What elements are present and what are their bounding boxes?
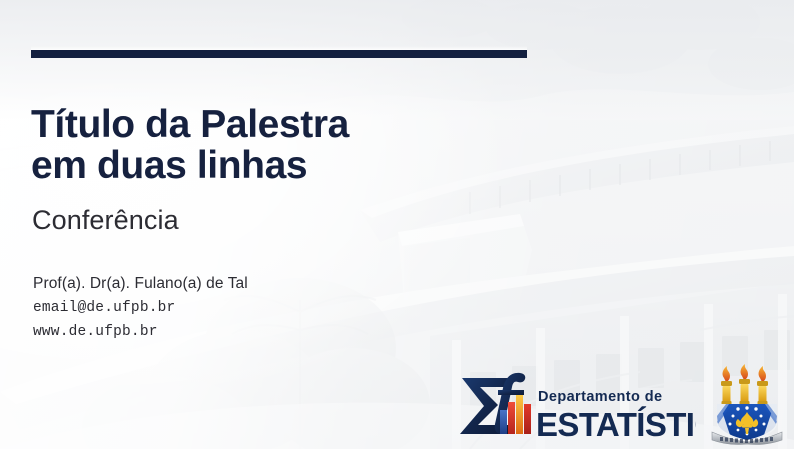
shield-icon [717, 404, 777, 440]
presenter-name: Prof(a). Dr(a). Fulano(a) de Tal [33, 275, 248, 293]
page-title: Título da Palestra em duas linhas [31, 104, 349, 187]
contact-website: www.de.ufpb.br [33, 324, 158, 340]
department-logo-line2: ESTATÍSTICA [536, 406, 696, 443]
event-type-subtitle: Conferência [32, 205, 179, 236]
background-top-fade [0, 0, 794, 120]
department-logo-line1: Departamento de [538, 389, 662, 405]
presentation-slide: Título da Palestra em duas linhas Confer… [0, 0, 794, 449]
contact-email: email@de.ufpb.br [33, 300, 175, 316]
torches-icon [721, 364, 768, 405]
department-logo: Departamento de ESTATÍSTICA [452, 368, 696, 444]
ufpb-coat-of-arms [708, 364, 786, 446]
top-rule [31, 50, 527, 58]
